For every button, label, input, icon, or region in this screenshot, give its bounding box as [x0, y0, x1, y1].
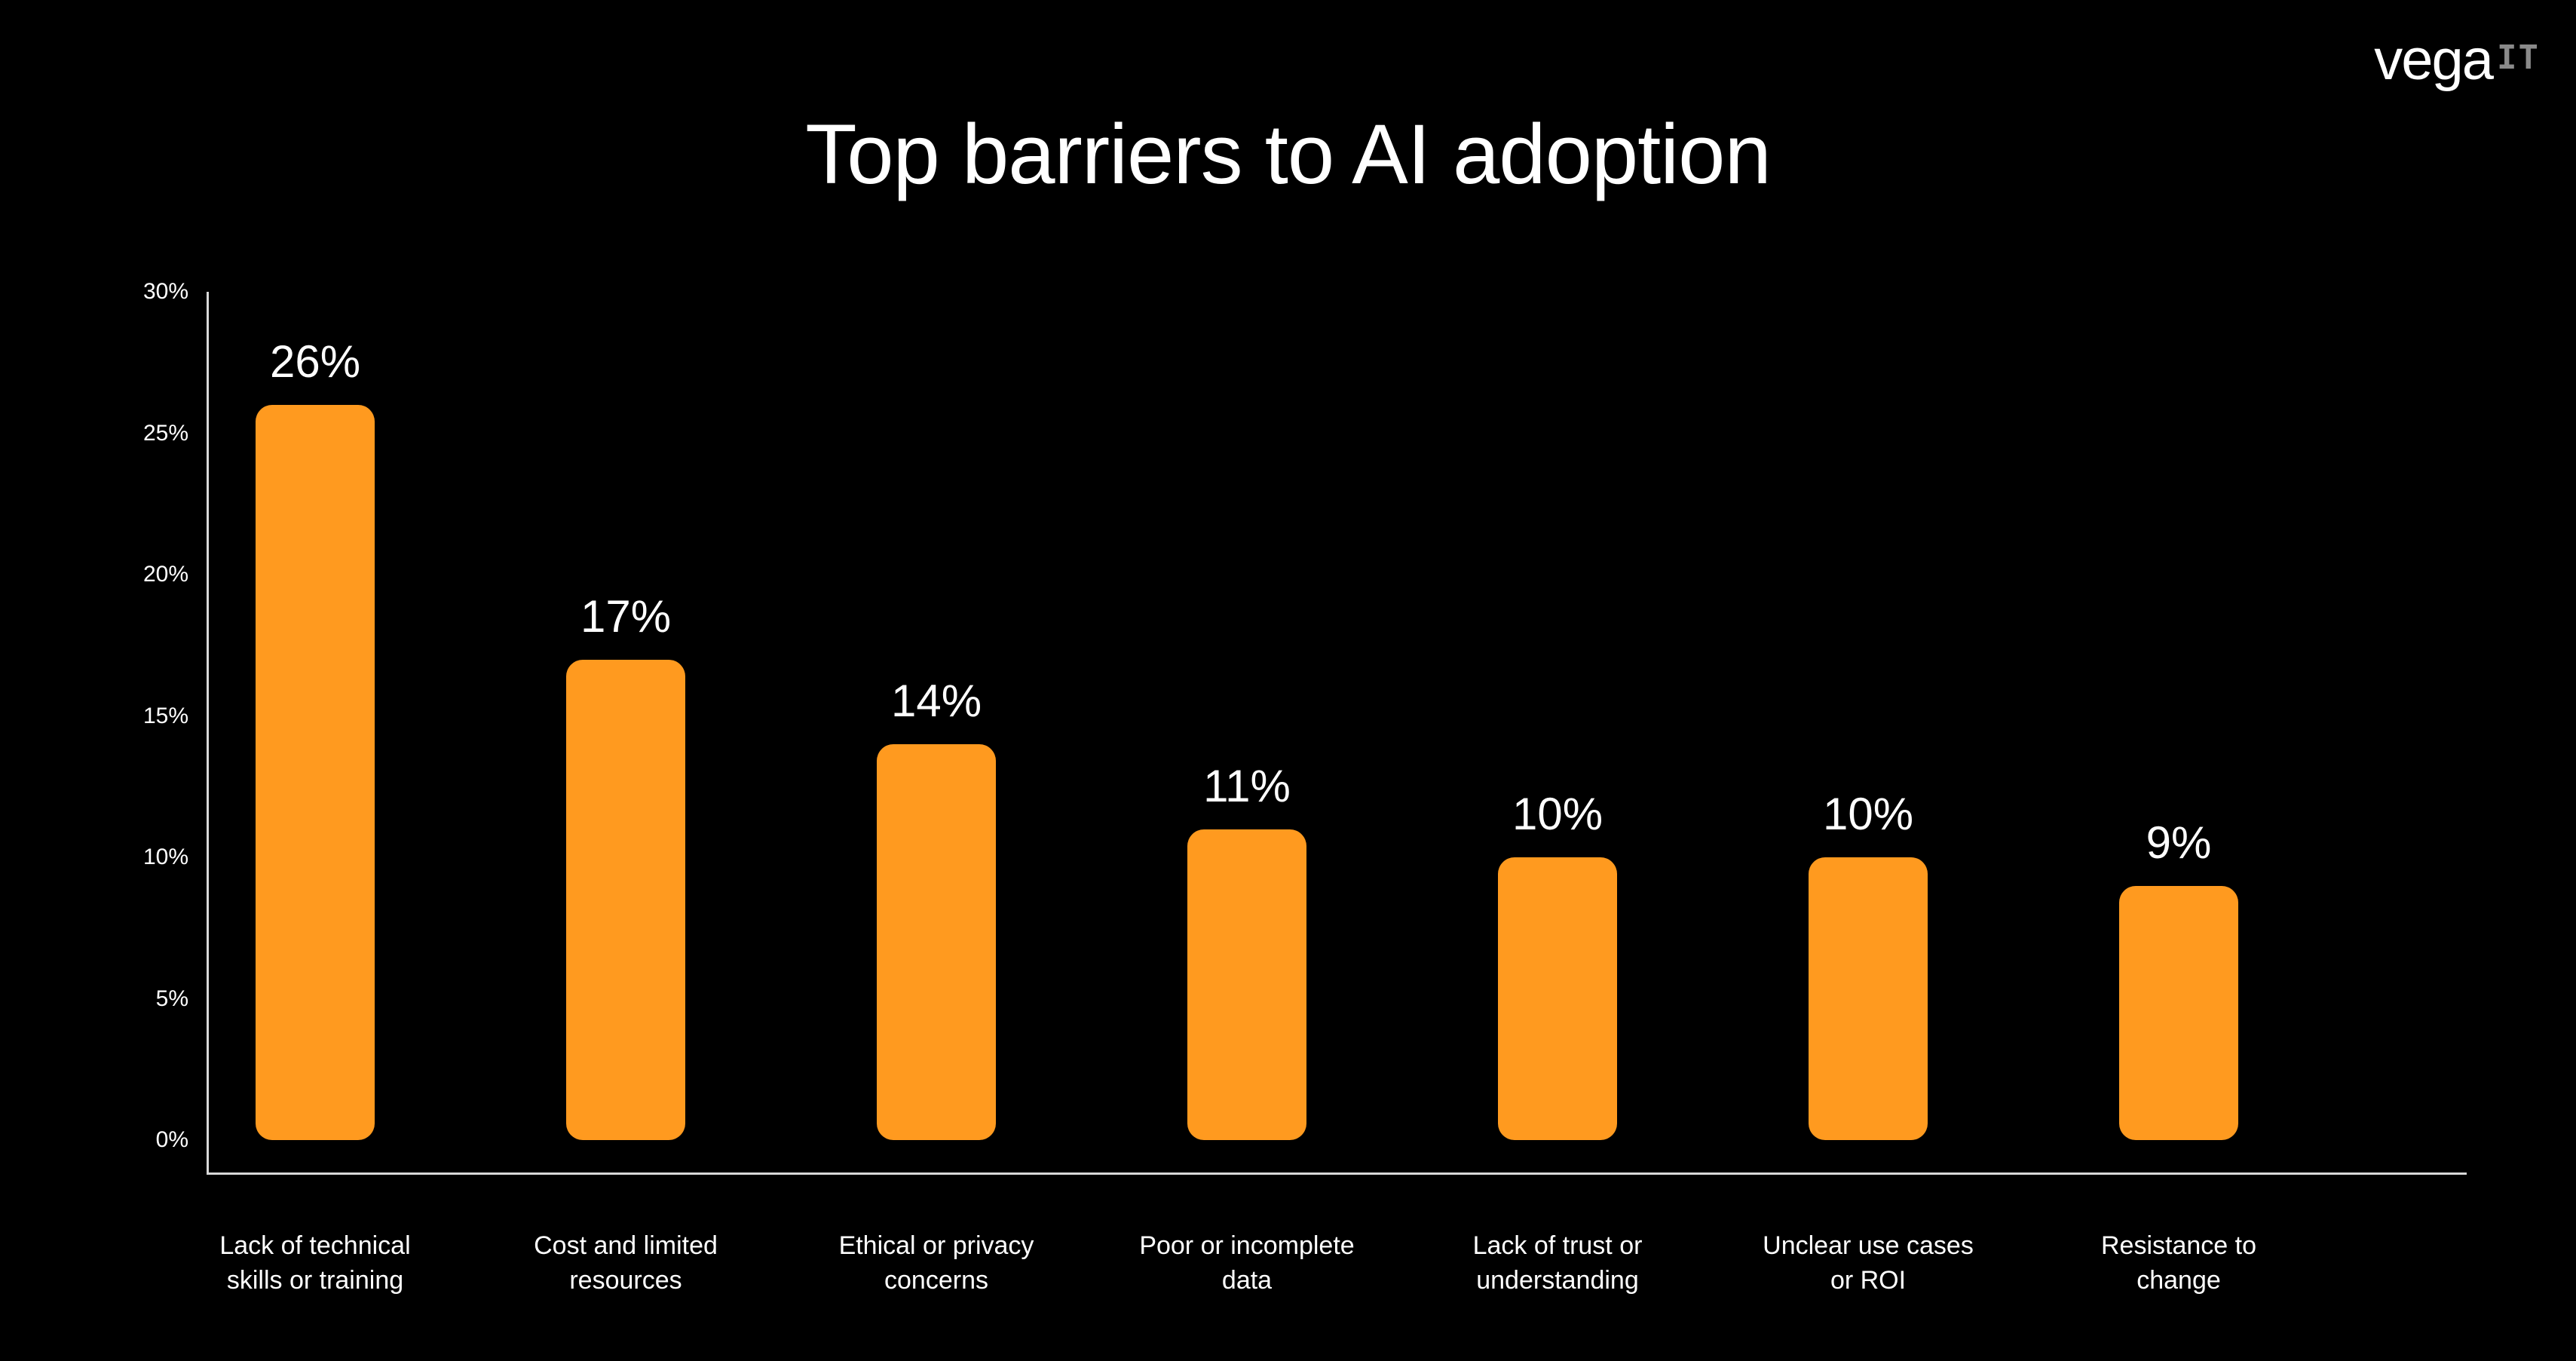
x-axis-category-label: Poor or incompletedata [1113, 1229, 1381, 1298]
y-axis-tick-0: 0% [38, 1127, 188, 1153]
bar[interactable] [1809, 857, 1928, 1140]
y-axis-line [207, 292, 209, 1174]
y-axis-tick-5: 5% [38, 986, 188, 1012]
x-axis-category-label: Lack of technicalskills or training [181, 1229, 449, 1298]
y-axis-tick-25: 25% [38, 421, 188, 446]
bar-value-label: 11% [1158, 760, 1336, 812]
x-axis-category-label: Cost and limitedresources [492, 1229, 760, 1298]
bar-group[interactable]: 10%Lack of trust orunderstanding [1469, 0, 1646, 1361]
bar-chart-plot-area: 0%5%10%15%20%25%30% 26%Lack of technical… [0, 0, 2576, 1361]
bar[interactable] [1187, 829, 1306, 1141]
bar[interactable] [1498, 857, 1617, 1140]
y-axis-tick-15: 15% [38, 703, 188, 729]
y-axis-tick-10: 10% [38, 844, 188, 870]
bar-value-label: 17% [537, 590, 715, 642]
x-axis-category-label: Unclear use casesor ROI [1734, 1229, 2002, 1298]
bar-value-label: 14% [847, 675, 1025, 727]
x-axis-category-label: Lack of trust orunderstanding [1423, 1229, 1692, 1298]
bar[interactable] [566, 660, 685, 1141]
x-axis-category-label: Resistance tochange [2045, 1229, 2313, 1298]
bar-value-label: 10% [1779, 788, 1957, 840]
bar[interactable] [256, 405, 375, 1140]
bar[interactable] [877, 744, 996, 1140]
bar-group[interactable]: 14%Ethical or privacyconcerns [847, 0, 1025, 1361]
bar-value-label: 9% [2090, 817, 2268, 869]
bar-value-label: 26% [226, 336, 404, 388]
bar-group[interactable]: 26%Lack of technicalskills or training [226, 0, 404, 1361]
bar-value-label: 10% [1469, 788, 1646, 840]
y-axis-tick-20: 20% [38, 562, 188, 587]
bar[interactable] [2119, 886, 2238, 1141]
y-axis-tick-30: 30% [38, 279, 188, 305]
bar-group[interactable]: 9%Resistance tochange [2090, 0, 2268, 1361]
bar-group[interactable]: 17%Cost and limitedresources [537, 0, 715, 1361]
bar-group[interactable]: 10%Unclear use casesor ROI [1779, 0, 1957, 1361]
x-axis-category-label: Ethical or privacyconcerns [802, 1229, 1071, 1298]
bar-group[interactable]: 11%Poor or incompletedata [1158, 0, 1336, 1361]
